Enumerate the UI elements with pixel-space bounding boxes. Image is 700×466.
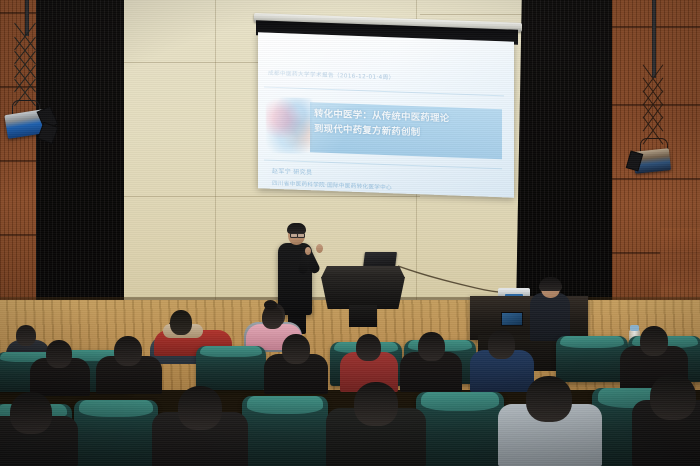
auditorium-seat[interactable]: [556, 336, 628, 382]
eyeglasses-icon: [297, 233, 305, 238]
presenter-hand: [316, 244, 323, 253]
presenter-hand: [305, 247, 311, 255]
audience-head: [418, 332, 445, 361]
audience-head: [46, 340, 72, 368]
audience-head: [10, 392, 52, 434]
auditorium-seat[interactable]: [242, 396, 328, 466]
operator-body: [530, 293, 570, 341]
auditorium-seat[interactable]: [196, 346, 266, 390]
pantograph-arm: [636, 76, 670, 140]
laptop-screen: [363, 252, 397, 268]
hair-bun: [264, 300, 277, 310]
projection-screen: 成都中医药大学学术报告（2016-12-01·4周） 转化中医学：从传统中医药理…: [258, 18, 513, 194]
light-pole: [652, 0, 656, 78]
podium-base: [349, 305, 377, 327]
wall-seam: [215, 0, 216, 330]
screen-glare: [258, 32, 514, 197]
audience-head: [114, 336, 142, 366]
curtain-left: [36, 0, 124, 330]
auditorium-seat[interactable]: [74, 400, 158, 466]
audience-head: [640, 326, 668, 356]
audience-head: [650, 374, 696, 420]
audience-head: [526, 376, 572, 422]
wall-seam: [120, 196, 420, 197]
desk-top: [470, 296, 588, 340]
audience-head: [354, 382, 398, 426]
audience-head: [170, 310, 192, 335]
audience-head: [356, 334, 381, 361]
curtain-right: [516, 0, 612, 310]
screen-surface: 成都中医药大学学术报告（2016-12-01·4周） 转化中医学：从传统中医药理…: [258, 32, 514, 197]
operator-hair: [539, 277, 562, 291]
audience-head: [178, 386, 222, 430]
auditorium-seat[interactable]: [416, 392, 504, 466]
desk-monitor-icon: [501, 312, 523, 326]
podium-top-surface: [321, 266, 405, 278]
audience-head: [16, 325, 36, 346]
bottle-cap: [630, 325, 639, 331]
pantograph-arm: [8, 34, 42, 102]
audience-head: [488, 330, 515, 359]
audience-head: [282, 334, 310, 364]
lecture-hall-photo: 成都中医药大学学术报告（2016-12-01·4周） 转化中医学：从传统中医药理…: [0, 0, 700, 466]
